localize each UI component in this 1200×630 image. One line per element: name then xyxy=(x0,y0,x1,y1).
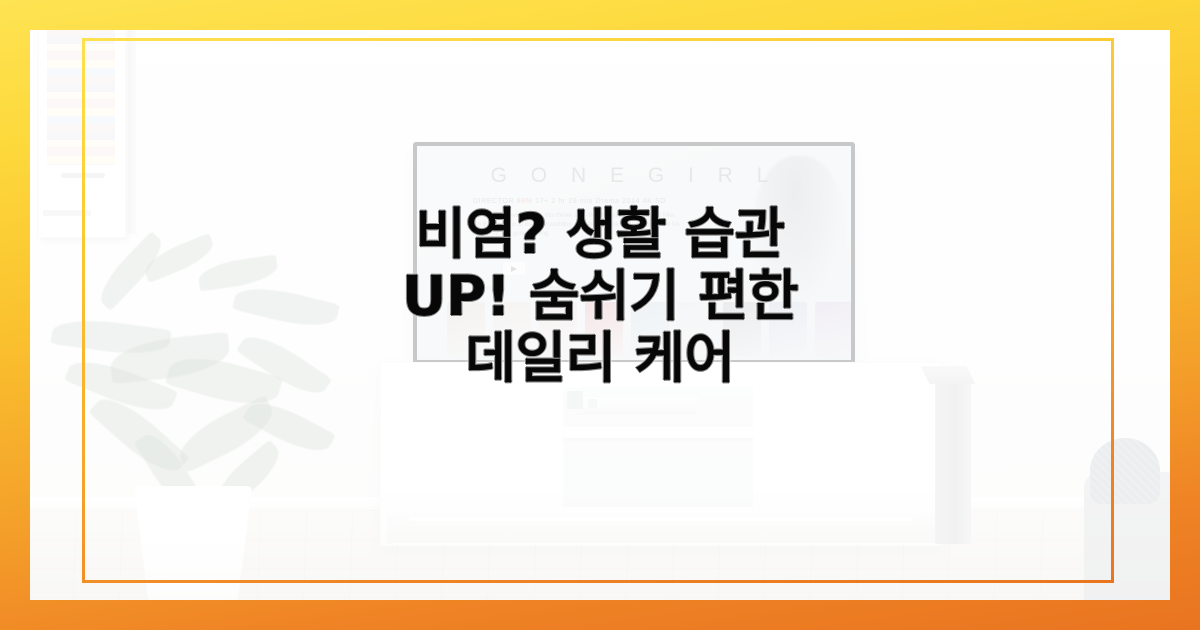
thumbnail-card: G O N E G I R L DIRECTOR 88% 17+ 2 hr 29… xyxy=(0,0,1200,630)
set-top-box xyxy=(567,391,583,409)
sofa-cushion xyxy=(1090,438,1160,504)
page-title: 비염? 생활 습관 UP! 숨쉬기 편한 데일리 케어 xyxy=(0,203,1200,389)
artwork-stripes xyxy=(47,30,115,165)
artwork-signature xyxy=(61,173,105,178)
tv-stand-shelf xyxy=(563,427,753,438)
floor-speaker xyxy=(935,382,971,544)
tv-movie-title: G O N E G I R L xyxy=(417,164,851,188)
plant-pot xyxy=(134,486,252,600)
small-device xyxy=(588,399,597,408)
tv-stand-handle xyxy=(409,517,913,521)
